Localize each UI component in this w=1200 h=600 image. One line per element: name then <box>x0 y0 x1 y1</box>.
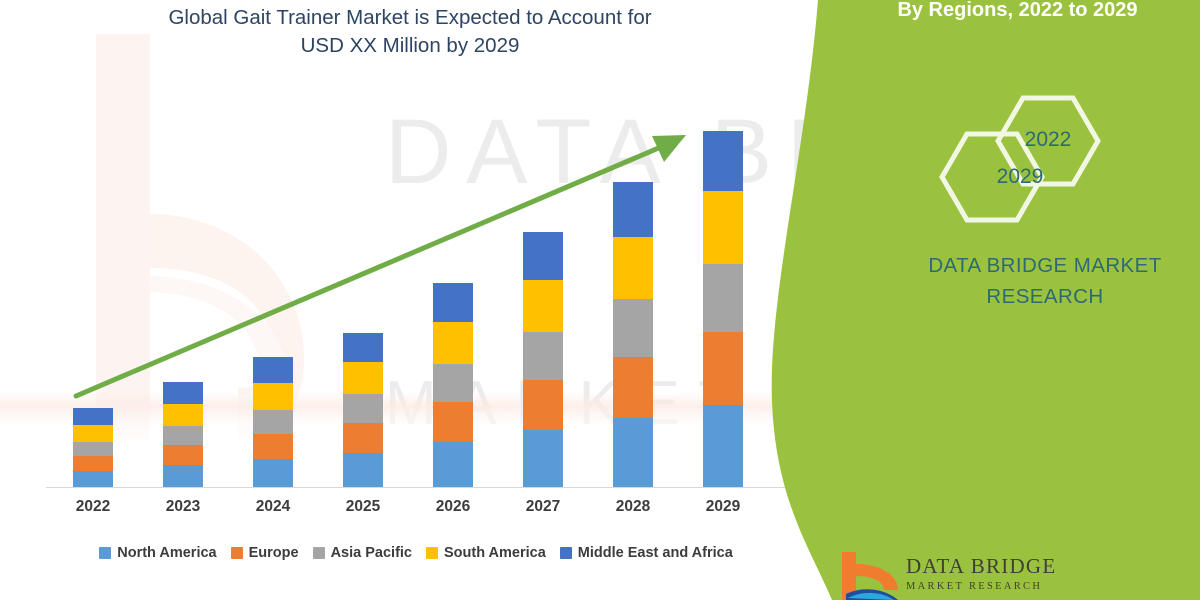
bar-segment-europe[interactable] <box>253 434 293 459</box>
bar-segment-asia-pacific[interactable] <box>73 442 113 456</box>
bar-segment-europe[interactable] <box>343 423 383 453</box>
bar-segment-north-america[interactable] <box>343 453 383 487</box>
stacked-bar-chart: 20222023202420252026202720282029 North A… <box>0 0 840 600</box>
bar-segment-south-america[interactable] <box>523 280 563 332</box>
bar-segment-north-america[interactable] <box>433 442 473 487</box>
bar-2026[interactable] <box>433 283 473 487</box>
bar-segment-north-america[interactable] <box>613 418 653 487</box>
bar-segment-north-america[interactable] <box>73 471 113 487</box>
x-axis-label-2025: 2025 <box>323 498 403 516</box>
bar-segment-europe[interactable] <box>523 380 563 430</box>
bar-segment-south-america[interactable] <box>613 237 653 299</box>
hex-label-2029: 2029 <box>985 165 1055 189</box>
bar-segment-europe[interactable] <box>163 445 203 465</box>
bar-segment-south-america[interactable] <box>73 425 113 442</box>
legend-swatch <box>313 547 325 559</box>
bar-segment-asia-pacific[interactable] <box>253 410 293 434</box>
legend-swatch <box>560 547 572 559</box>
bar-segment-europe[interactable] <box>433 402 473 442</box>
bar-2024[interactable] <box>253 357 293 487</box>
bar-segment-asia-pacific[interactable] <box>613 299 653 357</box>
legend-swatch <box>426 547 438 559</box>
bar-segment-asia-pacific[interactable] <box>343 394 383 423</box>
legend-label: Europe <box>249 545 299 561</box>
legend-item-south-america[interactable]: South America <box>426 545 546 561</box>
bar-segment-south-america[interactable] <box>163 404 203 426</box>
legend-item-asia-pacific[interactable]: Asia Pacific <box>313 545 412 561</box>
legend-label: Middle East and Africa <box>578 545 733 561</box>
bar-segment-asia-pacific[interactable] <box>523 332 563 380</box>
panel-header: By Regions, 2022 to 2029 <box>845 0 1190 22</box>
legend-swatch <box>231 547 243 559</box>
bar-segment-north-america[interactable] <box>703 405 743 487</box>
legend-label: Asia Pacific <box>331 545 412 561</box>
logo-name: DATA BRIDGE <box>906 554 1056 579</box>
bar-2025[interactable] <box>343 333 383 487</box>
bar-segment-north-america[interactable] <box>253 459 293 487</box>
logo-tagline: MARKET RESEARCH <box>906 581 1042 592</box>
bar-segment-middle-east-and-africa[interactable] <box>523 232 563 280</box>
bar-segment-south-america[interactable] <box>703 191 743 264</box>
bar-segment-middle-east-and-africa[interactable] <box>73 408 113 425</box>
bar-2022[interactable] <box>73 408 113 487</box>
bar-segment-asia-pacific[interactable] <box>433 364 473 402</box>
bar-segment-europe[interactable] <box>703 332 743 405</box>
hexagon-badges: 2029 2022 <box>905 92 1135 232</box>
bar-segment-middle-east-and-africa[interactable] <box>163 382 203 404</box>
bar-segment-europe[interactable] <box>613 357 653 418</box>
bar-2029[interactable] <box>703 131 743 487</box>
bar-segment-middle-east-and-africa[interactable] <box>343 333 383 362</box>
x-axis-label-2024: 2024 <box>233 498 313 516</box>
bar-segment-asia-pacific[interactable] <box>703 264 743 332</box>
bar-2028[interactable] <box>613 182 653 487</box>
brand-line-1: DATA BRIDGE MARKET <box>928 254 1161 277</box>
legend-swatch <box>99 547 111 559</box>
bar-segment-south-america[interactable] <box>343 362 383 394</box>
chart-legend: North AmericaEuropeAsia PacificSouth Ame… <box>46 540 786 566</box>
hex-label-2022: 2022 <box>1013 128 1083 152</box>
legend-item-europe[interactable]: Europe <box>231 545 299 561</box>
x-axis-labels: 20222023202420252026202720282029 <box>0 498 840 524</box>
bar-segment-middle-east-and-africa[interactable] <box>703 131 743 191</box>
hexagon-outlines-icon <box>905 92 1135 232</box>
brand-line-2: RESEARCH <box>880 281 1200 312</box>
bar-segment-south-america[interactable] <box>253 383 293 410</box>
bar-segment-middle-east-and-africa[interactable] <box>253 357 293 383</box>
bar-segment-middle-east-and-africa[interactable] <box>433 283 473 322</box>
x-axis-line <box>46 487 786 488</box>
legend-label: South America <box>444 545 546 561</box>
bar-segment-middle-east-and-africa[interactable] <box>613 182 653 237</box>
x-axis-label-2027: 2027 <box>503 498 583 516</box>
data-bridge-logo: DATA BRIDGE MARKET RESEARCH <box>836 548 1166 600</box>
panel-brand-text: DATA BRIDGE MARKET RESEARCH <box>880 250 1200 312</box>
infographic-canvas: DATA BRIDGE MARKET RESEARCH Global Gait … <box>0 0 1200 600</box>
legend-item-middle-east-and-africa[interactable]: Middle East and Africa <box>560 545 733 561</box>
bar-2027[interactable] <box>523 232 563 487</box>
bar-segment-south-america[interactable] <box>433 322 473 364</box>
bar-segment-north-america[interactable] <box>523 430 563 487</box>
legend-label: North America <box>117 545 216 561</box>
legend-item-north-america[interactable]: North America <box>99 545 216 561</box>
bar-segment-asia-pacific[interactable] <box>163 426 203 445</box>
x-axis-label-2022: 2022 <box>53 498 133 516</box>
logo-mark-icon <box>836 548 906 600</box>
bar-segment-north-america[interactable] <box>163 465 203 487</box>
bar-2023[interactable] <box>163 382 203 487</box>
bar-segment-europe[interactable] <box>73 456 113 471</box>
x-axis-label-2028: 2028 <box>593 498 673 516</box>
x-axis-label-2026: 2026 <box>413 498 493 516</box>
x-axis-label-2023: 2023 <box>143 498 223 516</box>
